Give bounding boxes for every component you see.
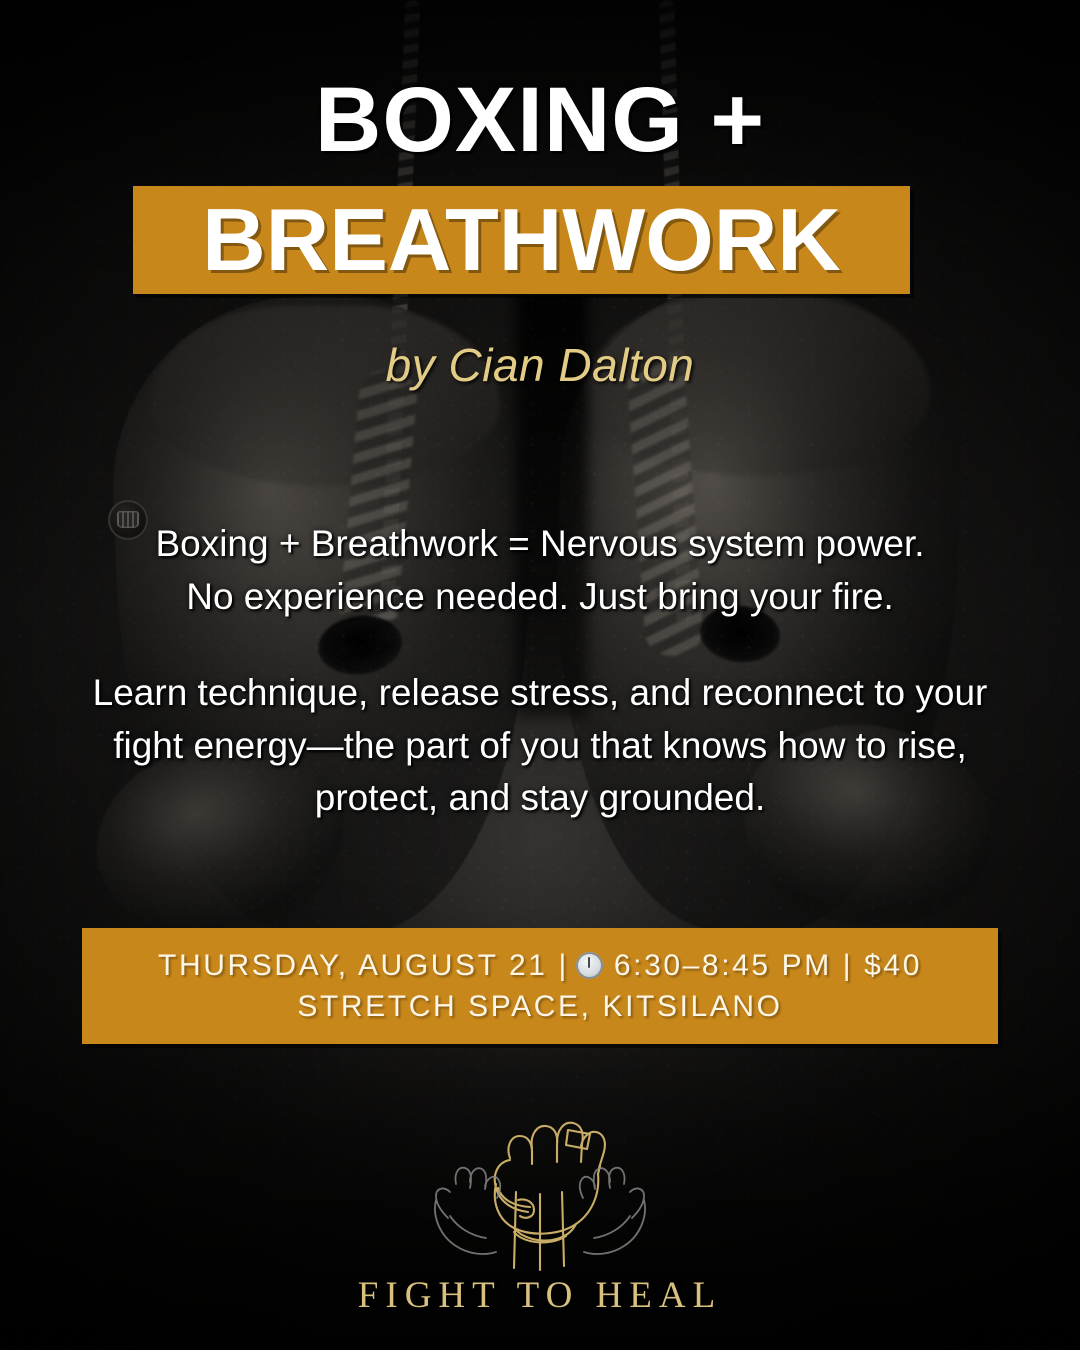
- poster-title-line-2: BREATHWORK: [202, 196, 841, 284]
- paragraph-spacer: [50, 623, 1030, 667]
- poster-title-highlight-band: BREATHWORK: [133, 186, 910, 294]
- raised-fist-with-open-hands-icon: [410, 1096, 670, 1276]
- detail-line-1: Learn technique, release stress, and rec…: [50, 667, 1030, 720]
- poster-content: BOXING + BREATHWORK by Cian Dalton Boxin…: [0, 0, 1080, 1350]
- event-details-band: THURSDAY, AUGUST 21 | 6:30–8:45 PM | $40…: [82, 928, 998, 1044]
- boxing-glove-icon: [108, 500, 148, 540]
- description-paragraph-lead: Boxing + Breathwork = Nervous system pow…: [50, 518, 1030, 623]
- brand-logo: FIGHT TO HEAL: [390, 1096, 690, 1317]
- event-poster: BOXING + BREATHWORK by Cian Dalton Boxin…: [0, 0, 1080, 1350]
- poster-description: Boxing + Breathwork = Nervous system pow…: [50, 518, 1030, 825]
- event-time-and-price: 6:30–8:45 PM | $40: [614, 948, 922, 983]
- event-date: THURSDAY, AUGUST 21 |: [158, 948, 569, 983]
- event-date-time-price-line: THURSDAY, AUGUST 21 | 6:30–8:45 PM | $40: [158, 948, 922, 983]
- lead-line-1: Boxing + Breathwork = Nervous system pow…: [50, 518, 1030, 571]
- brand-wordmark: FIGHT TO HEAL: [358, 1274, 722, 1317]
- detail-line-2: fight energy—the part of you that knows …: [50, 720, 1030, 773]
- poster-title-line-1: BOXING +: [0, 74, 1080, 166]
- event-venue: STRETCH SPACE, KITSILANO: [297, 989, 782, 1024]
- detail-line-3: protect, and stay grounded.: [50, 772, 1030, 825]
- description-paragraph-detail: Learn technique, release stress, and rec…: [50, 667, 1030, 825]
- lead-line-2: No experience needed. Just bring your fi…: [50, 571, 1030, 624]
- instructor-byline: by Cian Dalton: [0, 338, 1080, 392]
- clock-icon: [576, 952, 603, 979]
